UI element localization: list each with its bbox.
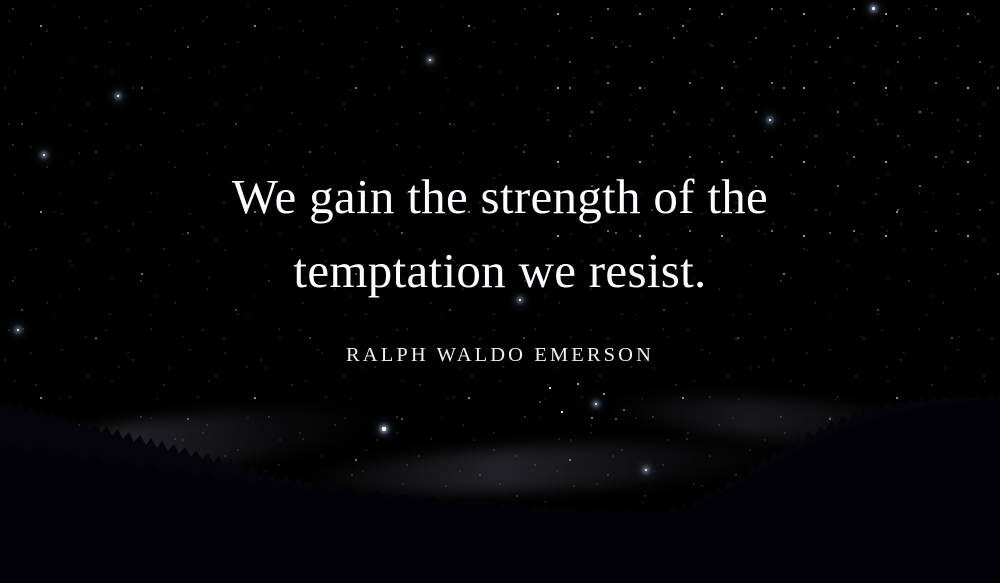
bright-star-top-right: [872, 7, 875, 10]
quote-line-1: We gain the strength of the: [60, 160, 940, 234]
quote-image-scene: We gain the strength of the temptation w…: [0, 0, 1000, 583]
quote-line-2: temptation we resist.: [60, 234, 940, 308]
bright-star-upper-mid: [429, 59, 431, 61]
quote-block: We gain the strength of the temptation w…: [0, 160, 1000, 367]
quote-author: RALPH WALDO EMERSON: [60, 344, 940, 367]
forest-treeline-silhouette: [0, 393, 1000, 583]
